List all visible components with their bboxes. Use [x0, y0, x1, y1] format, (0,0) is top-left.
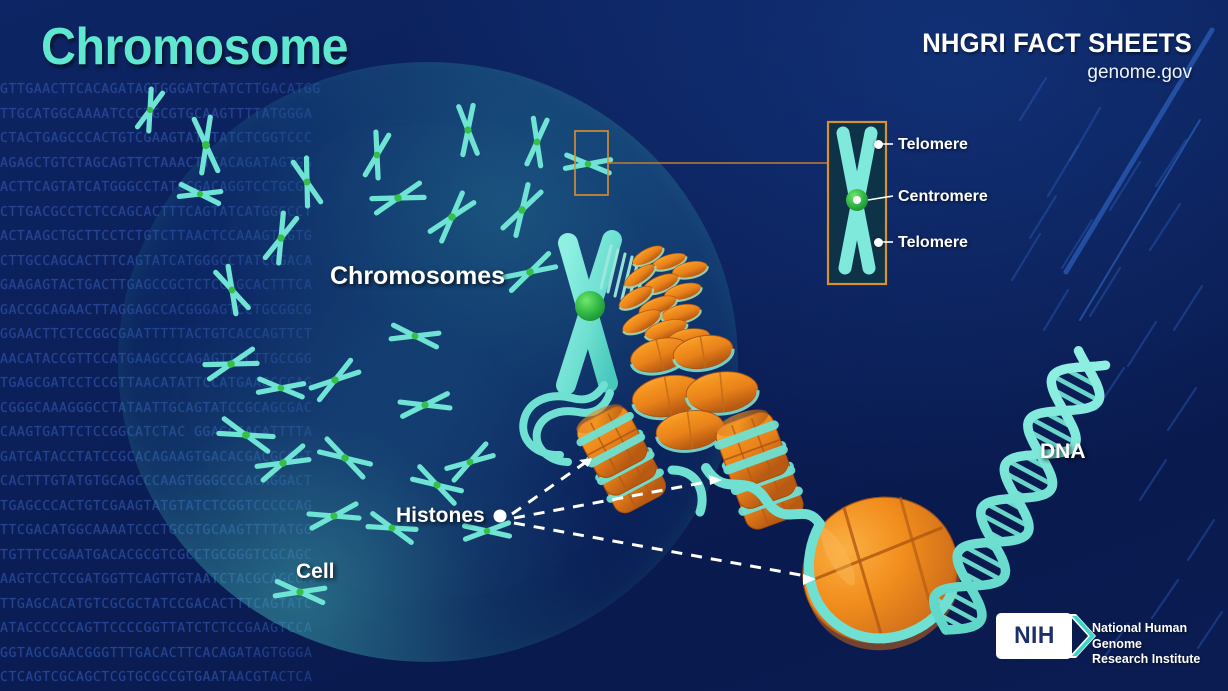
page-title: Chromosome: [41, 17, 348, 77]
chromosome-glyph: [258, 379, 303, 397]
chromosome-callout-box: [575, 131, 828, 195]
primary-chromosome: [566, 240, 612, 385]
chromosome-glyph: [216, 266, 249, 313]
chromosome-glyph: [138, 89, 163, 131]
chromosome-glyph: [391, 325, 439, 347]
dna-linker-a-to-b: [672, 470, 702, 512]
label-dna: DNA: [1040, 440, 1086, 464]
label-histones: Histones: [396, 504, 485, 528]
label-chromosomes: Chromosomes: [330, 262, 505, 291]
chromosome-glyph: [372, 183, 424, 213]
nih-wordmark-line1: National Human Genome: [1092, 621, 1201, 652]
chromosome-glyph: [194, 117, 218, 173]
chromosome-glyph: [527, 118, 547, 165]
chromosome-glyph: [309, 504, 359, 528]
telomere-dot-bottom: [874, 238, 883, 247]
chromosome-glyph: [447, 444, 493, 480]
chromosome-glyph: [459, 105, 478, 154]
nih-logo-mark: NIH: [1014, 622, 1055, 650]
chromosome-illustration: [0, 0, 1228, 691]
label-telomere-bottom: Telomere: [898, 234, 968, 252]
chromosome-glyph: [179, 185, 220, 204]
histone-complex-large: [781, 474, 983, 673]
chromosome-field: [138, 89, 611, 602]
label-centromere: Centromere: [898, 188, 988, 206]
histone-pointer-origin-dot: [494, 510, 507, 523]
chromosome-glyph: [503, 185, 541, 236]
chromosome-glyph: [205, 349, 257, 379]
chromosome-glyph: [430, 193, 474, 241]
chromosome-glyph: [565, 155, 610, 173]
chromosome-glyph: [413, 467, 462, 503]
chromosome-glyph: [275, 582, 325, 603]
chromosome-glyph: [400, 394, 450, 417]
dna-double-helix: [934, 351, 1106, 630]
infographic-canvas: GTTGAACTTCACAGATAGTGGGATCTATCTTGACATGGTT…: [0, 0, 1228, 691]
nih-wordmark-line2: Research Institute: [1092, 652, 1201, 668]
chromosome-inset-panel: [828, 122, 893, 284]
chromosome-glyph: [219, 419, 273, 451]
chromosome-glyph: [311, 360, 359, 399]
brand-fact-sheets: NHGRI FACT SHEETS: [922, 28, 1192, 59]
chromosome-glyph: [504, 254, 555, 291]
chromosome-glyph: [293, 158, 320, 206]
label-cell: Cell: [296, 560, 335, 584]
chromosome-glyph: [320, 439, 371, 477]
nih-logo: NIH National Human Genome Research Insti…: [996, 613, 1201, 669]
chromosome-glyph: [265, 213, 296, 263]
telomere-dot-top: [874, 140, 883, 149]
nih-logo-wordmark: National Human Genome Research Institute: [1092, 621, 1201, 668]
label-telomere-top: Telomere: [898, 136, 968, 154]
chromosome-glyph: [365, 132, 388, 178]
nih-logo-box: NIH: [996, 613, 1072, 659]
brand-website: genome.gov: [1087, 62, 1192, 84]
